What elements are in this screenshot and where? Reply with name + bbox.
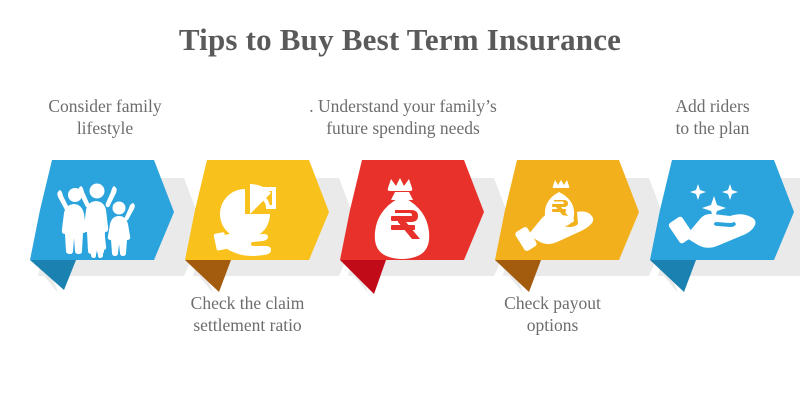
banner-tail <box>495 260 541 292</box>
caption-step-1: Consider family lifestyle <box>10 95 200 140</box>
banner-shape-5 <box>634 160 794 285</box>
caption-line: options <box>460 314 645 336</box>
caption-line: lifestyle <box>10 117 200 139</box>
caption-line: Consider family <box>10 95 200 117</box>
step-banner-3[interactable] <box>324 160 484 285</box>
caption-step-5: Add riders to the plan <box>630 95 795 140</box>
caption-line: Check payout <box>460 292 645 314</box>
banner-tail <box>650 260 696 292</box>
caption-line: . Understand your family’s <box>243 95 563 117</box>
caption-step-4: Check payout options <box>460 292 645 337</box>
step-banner-4[interactable] <box>479 160 639 285</box>
step-banner-5[interactable] <box>634 160 794 285</box>
banner-shape-2 <box>169 160 329 285</box>
caption-line: settlement ratio <box>140 314 355 336</box>
banner-tail <box>185 260 231 292</box>
step-banner-2[interactable] <box>169 160 329 285</box>
banner-tail <box>340 260 386 294</box>
caption-line: to the plan <box>630 117 795 139</box>
caption-line: Check the claim <box>140 292 355 314</box>
page-title: Tips to Buy Best Term Insurance <box>0 22 800 58</box>
banner-body <box>185 160 329 260</box>
banner-shape-3 <box>324 160 484 285</box>
caption-step-2: Check the claim settlement ratio <box>140 292 355 337</box>
banner-body <box>650 160 794 260</box>
caption-line: future spending needs <box>243 117 563 139</box>
infographic-canvas: Tips to Buy Best Term Insurance Consider… <box>0 0 800 400</box>
caption-line: Add riders <box>630 95 795 117</box>
banner-shape-4 <box>479 160 639 285</box>
banner-body <box>30 160 174 260</box>
banner-body <box>340 160 484 260</box>
banner-body <box>495 160 639 260</box>
step-banner-1[interactable] <box>14 160 174 285</box>
caption-step-3: . Understand your family’s future spendi… <box>243 95 563 140</box>
banner-shape-1 <box>14 160 174 285</box>
